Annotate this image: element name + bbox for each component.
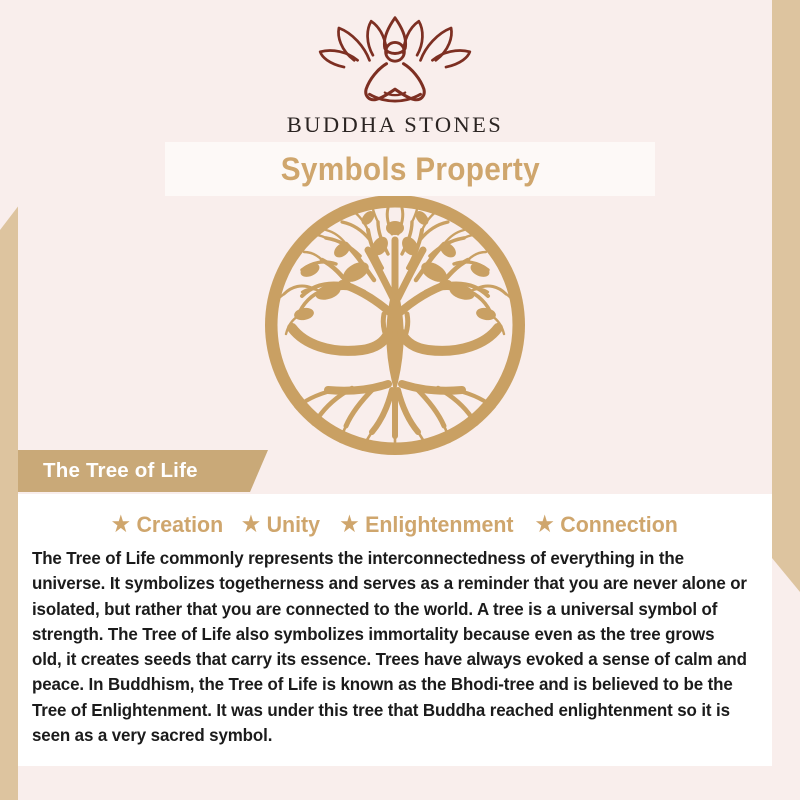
star-icon: ★ bbox=[340, 514, 358, 535]
symbol-name-label: The Tree of Life bbox=[18, 459, 198, 483]
keyword-label: Connection bbox=[560, 512, 678, 538]
star-icon: ★ bbox=[536, 514, 554, 535]
keyword-label: Creation bbox=[136, 512, 223, 538]
description-text: The Tree of Life commonly represents the… bbox=[30, 546, 749, 748]
star-icon: ★ bbox=[242, 514, 260, 535]
symbol-name-banner: The Tree of Life bbox=[18, 450, 268, 492]
brand-name: BUDDHA STONES bbox=[18, 112, 772, 138]
brand-header: BUDDHA STONES bbox=[18, 0, 772, 138]
page-title: Symbols Property bbox=[280, 151, 539, 188]
keyword-label: Enlightenment bbox=[365, 512, 513, 538]
tree-of-life-icon bbox=[264, 194, 526, 456]
decorative-band-right bbox=[772, 0, 800, 592]
keyword-label: Unity bbox=[266, 512, 319, 538]
keyword-item-unity: ★ Unity bbox=[242, 512, 320, 538]
symbol-illustration bbox=[18, 194, 772, 456]
symbols-property-band: Symbols Property bbox=[165, 142, 655, 196]
page-panel: BUDDHA STONES Symbols Property bbox=[18, 0, 772, 800]
keyword-item-creation: ★ Creation bbox=[112, 512, 223, 538]
star-icon: ★ bbox=[112, 514, 130, 535]
keyword-item-enlightenment: ★ Enlightenment bbox=[340, 512, 513, 538]
lotus-meditation-figure-icon bbox=[310, 14, 480, 110]
keyword-list: ★ Creation ★ Unity ★ Enlightenment ★ Con… bbox=[30, 512, 760, 538]
keyword-item-connection: ★ Connection bbox=[536, 512, 678, 538]
description-card: ★ Creation ★ Unity ★ Enlightenment ★ Con… bbox=[18, 494, 772, 766]
